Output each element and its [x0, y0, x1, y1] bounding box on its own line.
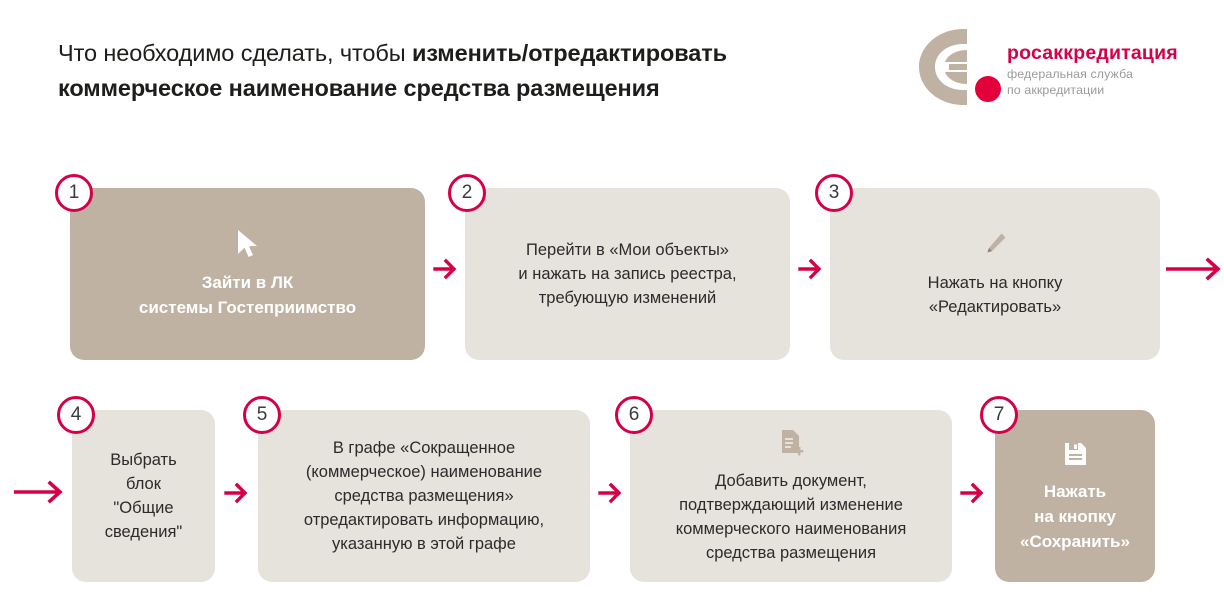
arrow-step1-to-step2 [433, 256, 461, 282]
step-badge-3-number: 3 [829, 182, 840, 204]
step-card-3[interactable]: Нажать на кнопку «Редактировать» [830, 188, 1160, 360]
step-card-4-text: Выбрать блок "Общие сведения" [105, 448, 183, 544]
save-floppy-icon [1061, 439, 1089, 469]
step-badge-6-number: 6 [629, 404, 640, 426]
arrow-step4-to-step5 [224, 480, 252, 506]
step-badge-4-number: 4 [71, 404, 82, 426]
arrow-step6-to-step7 [960, 480, 988, 506]
step-badge-7: 7 [980, 396, 1018, 434]
document-add-icon [777, 427, 805, 459]
step-badge-7-number: 7 [994, 404, 1005, 426]
arrow-row2-wrap-in [14, 480, 72, 504]
step-card-3-text: Нажать на кнопку «Редактировать» [928, 271, 1063, 319]
step-badge-1-number: 1 [69, 182, 80, 204]
step-card-5[interactable]: В графе «Сокращенное (коммерческое) наим… [258, 410, 590, 582]
pencil-icon [980, 229, 1010, 261]
arrow-step5-to-step6 [598, 480, 626, 506]
step-badge-5-number: 5 [257, 404, 268, 426]
step-card-5-text: В графе «Сокращенное (коммерческое) наим… [304, 436, 544, 556]
step-card-7[interactable]: Нажать на кнопку «Сохранить» [995, 410, 1155, 582]
step-badge-2: 2 [448, 174, 486, 212]
step-card-6[interactable]: Добавить документ, подтверждающий измене… [630, 410, 952, 582]
step-card-2-text: Перейти в «Мои объекты» и нажать на запи… [518, 238, 736, 310]
step-badge-5: 5 [243, 396, 281, 434]
step-badge-2-number: 2 [462, 182, 473, 204]
step-badge-4: 4 [57, 396, 95, 434]
step-card-2[interactable]: Перейти в «Мои объекты» и нажать на запи… [465, 188, 790, 360]
arrow-step2-to-step3 [798, 256, 826, 282]
arrow-row1-wrap-out [1166, 257, 1224, 281]
step-badge-1: 1 [55, 174, 93, 212]
step-badge-3: 3 [815, 174, 853, 212]
process-flow: Зайти в ЛК системы Гостеприимство 1 Пере… [0, 0, 1224, 613]
step-badge-6: 6 [615, 396, 653, 434]
step-card-1[interactable]: Зайти в ЛК системы Гостеприимство [70, 188, 425, 360]
cursor-pointer-icon [235, 228, 261, 260]
step-card-4[interactable]: Выбрать блок "Общие сведения" [72, 410, 215, 582]
step-card-7-text: Нажать на кнопку «Сохранить» [1020, 479, 1130, 554]
step-card-1-text: Зайти в ЛК системы Гостеприимство [139, 270, 356, 320]
step-card-6-text: Добавить документ, подтверждающий измене… [676, 469, 907, 565]
